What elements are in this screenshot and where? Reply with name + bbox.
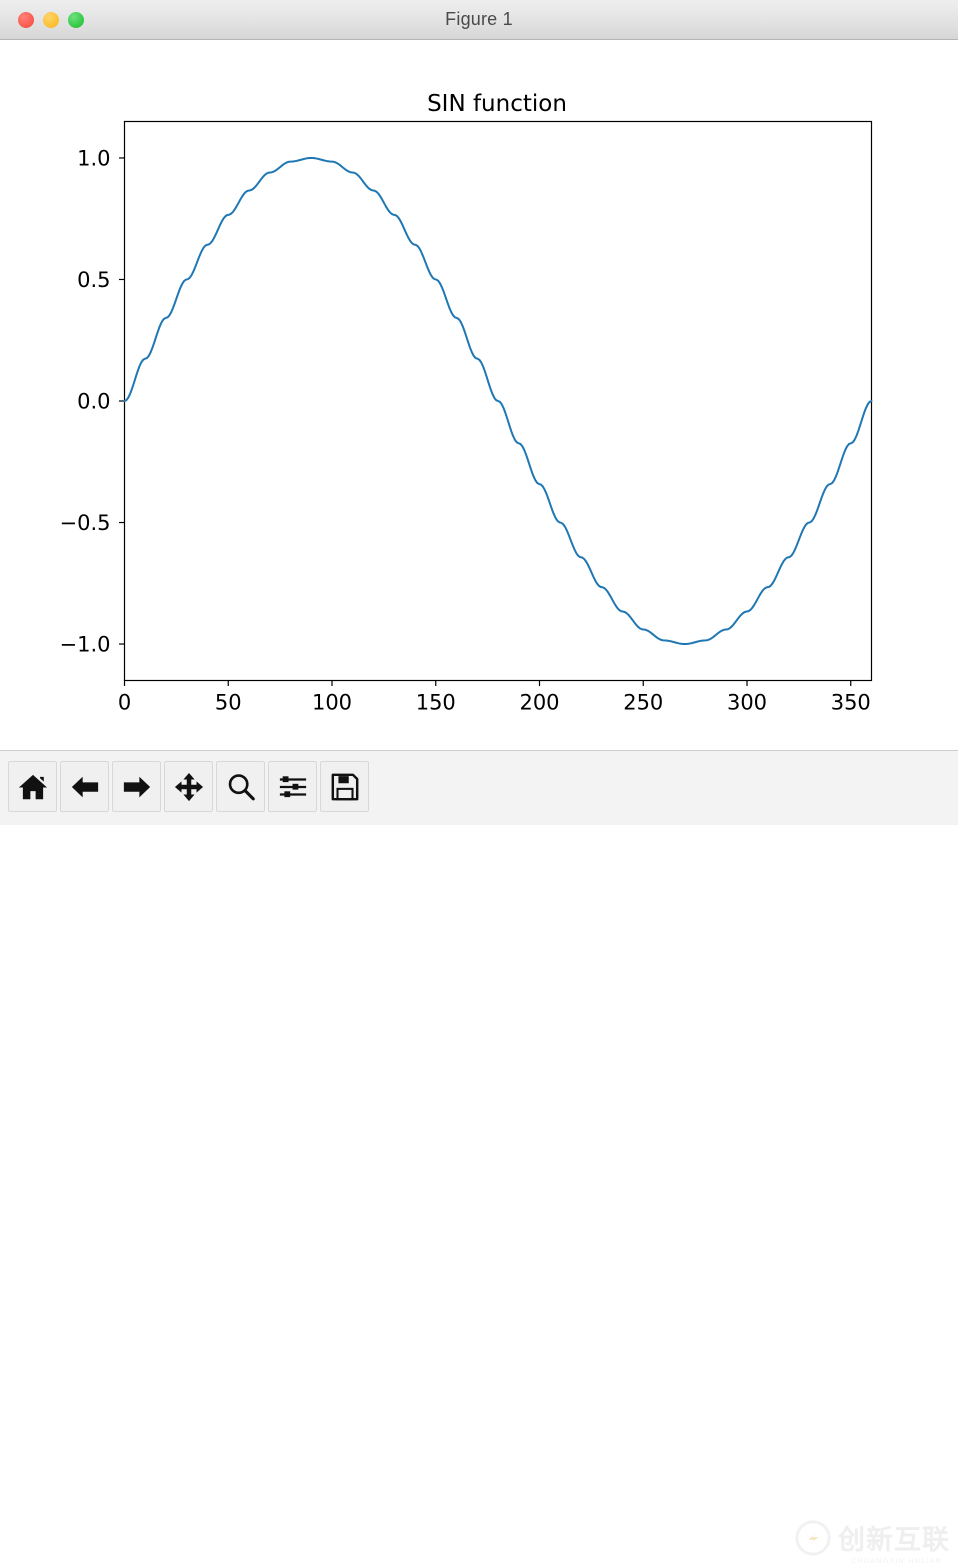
series-line-sin — [125, 158, 872, 644]
configure-subplots-button[interactable] — [268, 761, 317, 812]
x-tick-label: 150 — [416, 691, 456, 715]
zoom-button[interactable] — [216, 761, 265, 812]
y-tick-label: 1.0 — [77, 146, 110, 170]
home-button[interactable] — [8, 761, 57, 812]
arrow-right-icon — [122, 772, 152, 802]
magnifier-icon — [226, 772, 256, 802]
x-tick-label: 250 — [623, 691, 663, 715]
window-titlebar: Figure 1 — [0, 0, 958, 40]
window-title: Figure 1 — [0, 0, 958, 39]
move-arrows-icon — [174, 772, 204, 802]
toolbar-button-group — [8, 761, 369, 812]
y-tick-label: −0.5 — [60, 511, 111, 535]
figure-canvas[interactable]: SIN function 050100150200250300350 −1.0−… — [0, 41, 958, 750]
x-tick-label: 50 — [215, 691, 242, 715]
y-tick-label: 0.5 — [77, 268, 110, 292]
y-tick-label: 0.0 — [77, 390, 110, 414]
x-tick-label: 300 — [727, 691, 767, 715]
figure-window: Figure 1 SIN function 050100150200250300… — [0, 0, 958, 825]
y-tick-label: −1.0 — [60, 633, 111, 657]
watermark-text: 创新互联 — [838, 1527, 950, 1554]
back-button[interactable] — [60, 761, 109, 812]
x-tick-label: 100 — [312, 691, 352, 715]
y-axis-ticks: −1.0−0.50.00.51.0 — [60, 146, 125, 656]
x-tick-label: 200 — [519, 691, 559, 715]
x-axis-ticks: 050100150200250300350 — [118, 681, 871, 715]
home-icon — [18, 772, 48, 802]
sliders-icon — [278, 772, 308, 802]
arrow-left-icon — [70, 772, 100, 802]
x-tick-label: 0 — [118, 691, 131, 715]
pan-button[interactable] — [164, 761, 213, 812]
x-tick-label: 350 — [831, 691, 871, 715]
watermark: 创新互联 CHUANGXIN HULIAN — [794, 1517, 950, 1563]
floppy-disk-icon — [330, 772, 360, 802]
watermark-logo-icon — [794, 1519, 832, 1561]
watermark-subtext: CHUANGXIN HULIAN — [851, 1557, 942, 1565]
navigation-toolbar: 创新互联 CHUANGXIN HULIAN — [0, 750, 958, 825]
matplotlib-axes[interactable]: SIN function 050100150200250300350 −1.0−… — [0, 41, 958, 750]
forward-button[interactable] — [112, 761, 161, 812]
save-button[interactable] — [320, 761, 369, 812]
chart-title: SIN function — [427, 91, 567, 117]
